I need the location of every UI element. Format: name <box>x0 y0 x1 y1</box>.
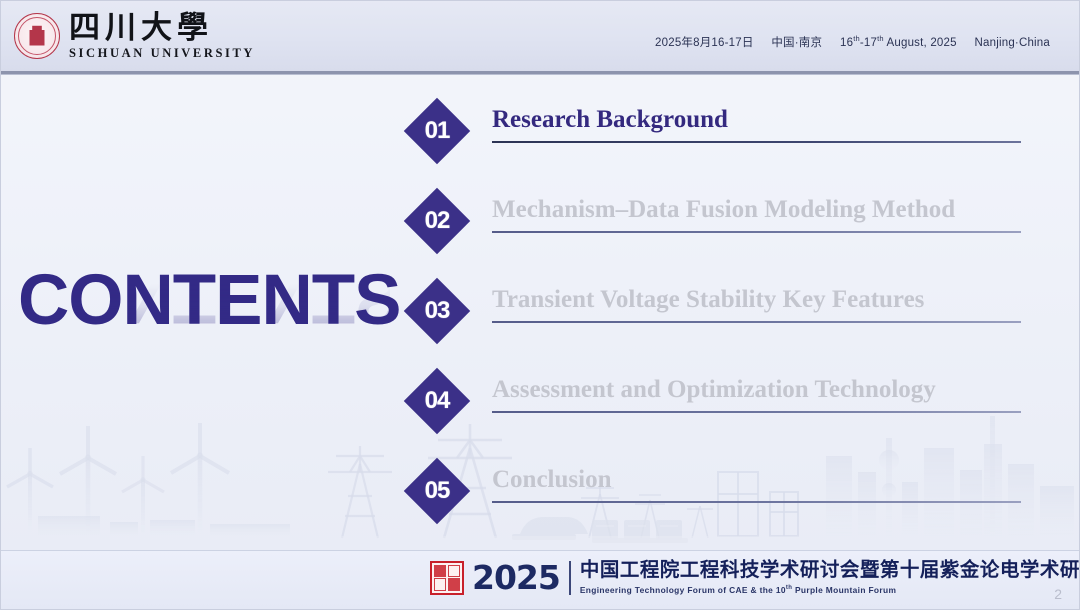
toc-item-05[interactable]: 05 Conclusion <box>404 456 1044 546</box>
toc-item-03[interactable]: 03 Transient Voltage Stability Key Featu… <box>404 276 1044 366</box>
toc-item-body: Research Background <box>492 96 1044 143</box>
toc-item-01[interactable]: 01 Research Background <box>404 96 1044 186</box>
university-logo: 四川大學 SICHUAN UNIVERSITY <box>14 12 255 61</box>
toc-number-diamond: 02 <box>404 188 470 254</box>
toc-number-diamond: 04 <box>404 368 470 434</box>
conference-branding: 2025 中国工程院工程科技学术研讨会暨第十届紫金论电学术研讨会 Enginee… <box>430 559 1080 596</box>
conference-location-en: Nanjing·China <box>975 37 1050 49</box>
sichuan-university-seal-icon <box>14 13 60 59</box>
university-name-block: 四川大學 SICHUAN UNIVERSITY <box>69 12 255 61</box>
header-divider-light <box>0 74 1080 75</box>
toc-number: 02 <box>404 188 470 254</box>
toc-number-diamond: 05 <box>404 458 470 524</box>
table-of-contents: 01 Research Background 02 Mechanism–Data… <box>404 96 1044 546</box>
university-name-cn: 四川大學 <box>69 12 255 45</box>
footer-separator <box>569 561 571 595</box>
toc-number-diamond: 03 <box>404 278 470 344</box>
toc-number: 04 <box>404 368 470 434</box>
toc-item-body: Mechanism–Data Fusion Modeling Method <box>492 186 1044 233</box>
toc-item-underline <box>492 501 1021 503</box>
toc-item-label: Mechanism–Data Fusion Modeling Method <box>492 195 1044 225</box>
conference-title-block: 中国工程院工程科技学术研讨会暨第十届紫金论电学术研讨会 Engineering … <box>580 559 1080 596</box>
conference-date-cn: 2025年8月16-17日 <box>655 37 754 49</box>
slide-header: 四川大學 SICHUAN UNIVERSITY 2025年8月16-17日 中国… <box>0 0 1080 72</box>
toc-item-underline <box>492 321 1021 323</box>
conference-location-cn: 中国·南京 <box>771 37 822 49</box>
toc-item-label: Conclusion <box>492 465 1044 495</box>
university-name-en: SICHUAN UNIVERSITY <box>69 46 255 61</box>
conference-year: 2025 <box>472 561 560 594</box>
toc-item-body: Assessment and Optimization Technology <box>492 366 1044 413</box>
slide-contents: 四川大學 SICHUAN UNIVERSITY 2025年8月16-17日 中国… <box>0 0 1080 610</box>
toc-item-underline <box>492 411 1021 413</box>
conference-date-en: 16th-17th August, 2025 <box>840 37 957 49</box>
conference-title-cn: 中国工程院工程科技学术研讨会暨第十届紫金论电学术研讨会 <box>580 559 1080 581</box>
slide-footer: 2025 中国工程院工程科技学术研讨会暨第十届紫金论电学术研讨会 Enginee… <box>0 550 1080 610</box>
toc-item-label: Transient Voltage Stability Key Features <box>492 285 1044 315</box>
conference-red-seal-icon <box>430 561 464 595</box>
toc-item-underline <box>492 141 1021 143</box>
toc-item-label: Assessment and Optimization Technology <box>492 375 1044 405</box>
toc-item-underline <box>492 231 1021 233</box>
toc-number-diamond: 01 <box>404 98 470 164</box>
page-number: 2 <box>1054 586 1062 602</box>
conference-title-en: Engineering Technology Forum of CAE & th… <box>580 583 1080 596</box>
page-title-reflection: CONTENTS <box>18 258 390 336</box>
toc-item-label: Research Background <box>492 105 1044 135</box>
toc-item-04[interactable]: 04 Assessment and Optimization Technolog… <box>404 366 1044 456</box>
toc-item-body: Transient Voltage Stability Key Features <box>492 276 1044 323</box>
toc-number: 03 <box>404 278 470 344</box>
toc-item-02[interactable]: 02 Mechanism–Data Fusion Modeling Method <box>404 186 1044 276</box>
toc-item-body: Conclusion <box>492 456 1044 503</box>
toc-number: 01 <box>404 98 470 164</box>
toc-number: 05 <box>404 458 470 524</box>
page-title-block: CONTENTS CONTENTS <box>18 262 390 392</box>
conference-meta: 2025年8月16-17日 中国·南京 16th-17th August, 20… <box>655 34 1050 50</box>
